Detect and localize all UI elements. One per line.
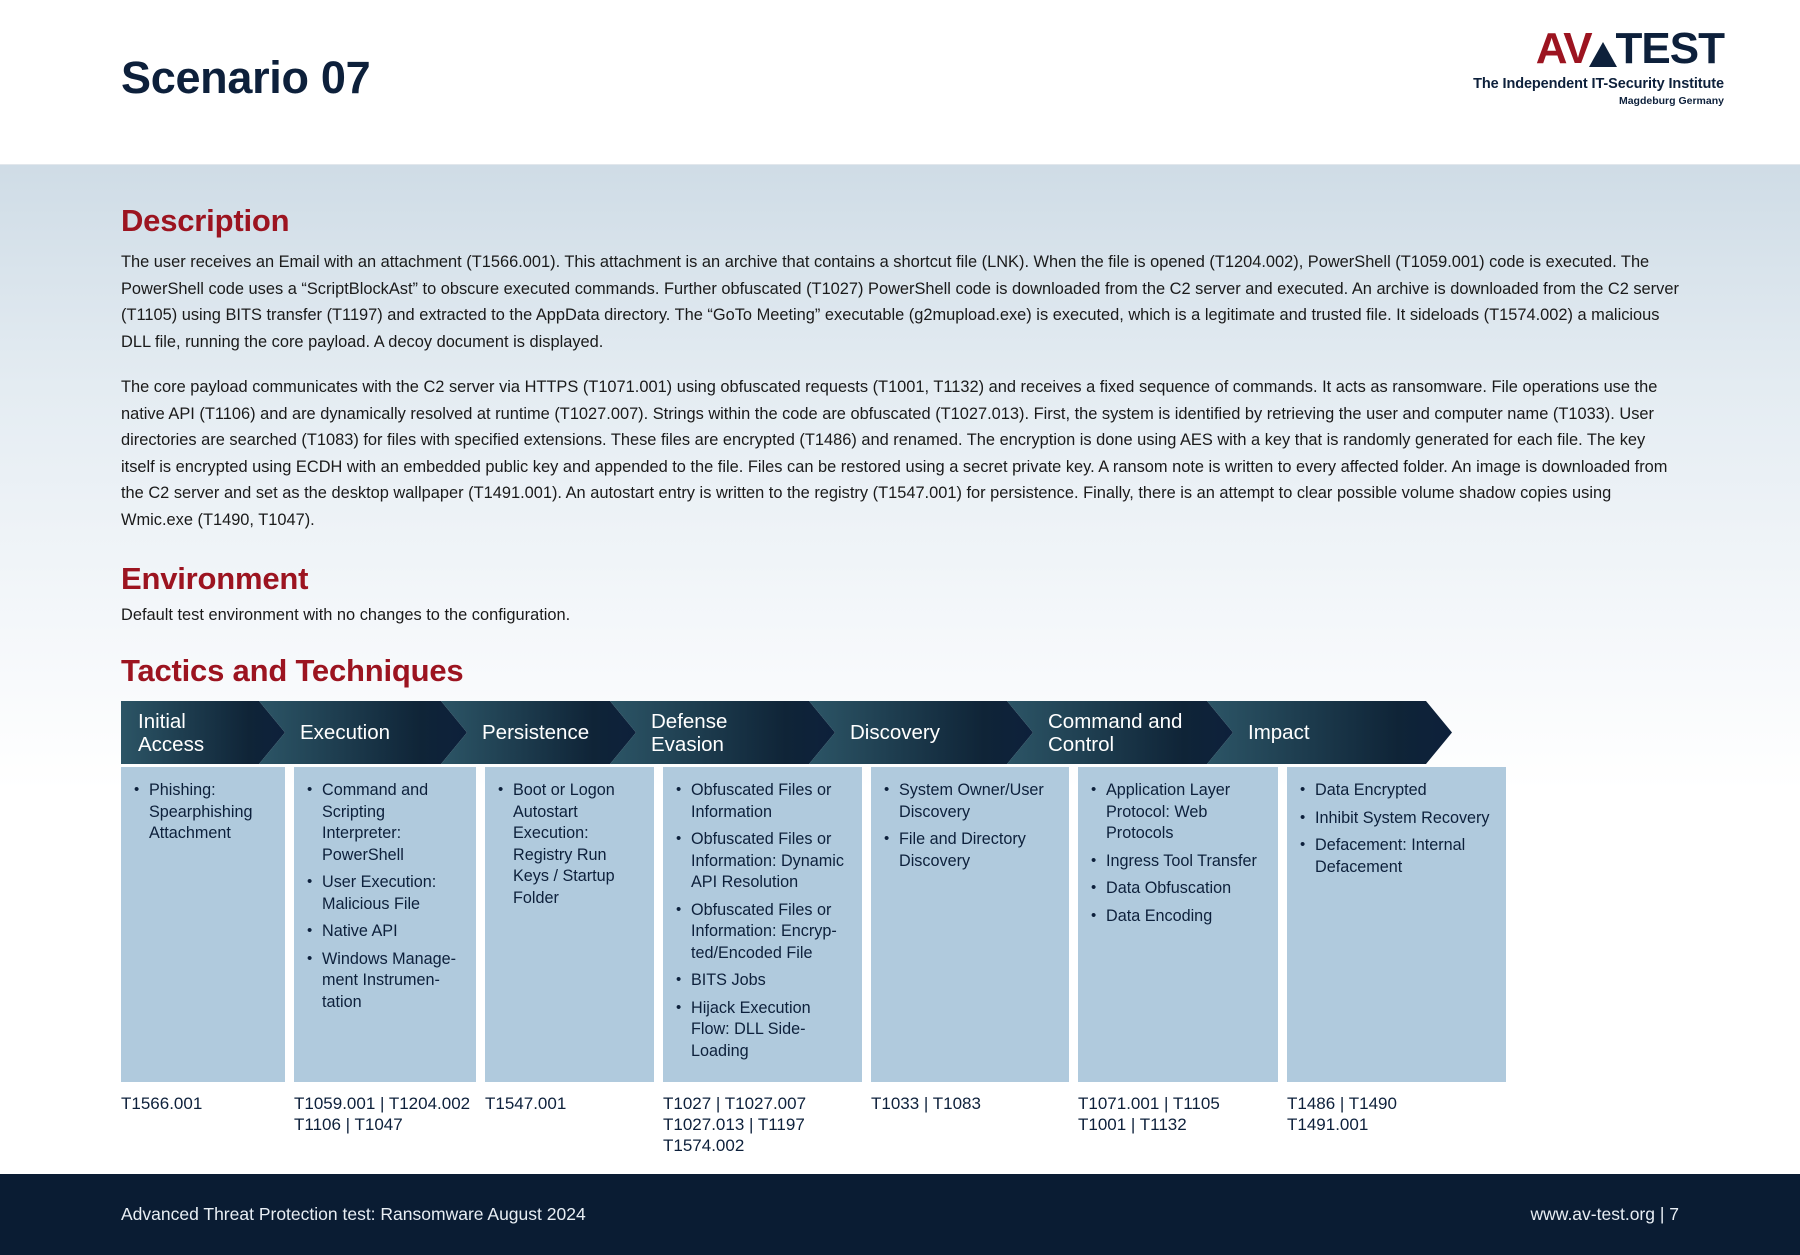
technique-item: BITS Jobs xyxy=(675,970,850,992)
page-title: Scenario 07 xyxy=(121,52,370,104)
technique-item: System Owner/User Discovery xyxy=(883,780,1057,823)
footer-url-page: www.av-test.org | 7 xyxy=(1531,1204,1680,1225)
technique-cell-discovery: System Owner/User DiscoveryFile and Dire… xyxy=(871,767,1069,1082)
technique-ids-discovery: T1033 | T1083 xyxy=(871,1093,1069,1156)
technique-ids-initial-access: T1566.001 xyxy=(121,1093,285,1156)
tactic-header-label: Persistence xyxy=(482,721,589,744)
av-triangle-icon xyxy=(1588,26,1618,68)
technique-list: Data EncryptedInhibit System RecoveryDef… xyxy=(1299,780,1494,878)
technique-item: Inhibit System Recovery xyxy=(1299,808,1494,830)
technique-list: Boot or Logon Autostart Execution: Regis… xyxy=(497,780,642,909)
technique-item: Data Obfuscation xyxy=(1090,878,1266,900)
description-heading: Description xyxy=(121,165,1679,239)
technique-item: Native API xyxy=(306,921,464,943)
environment-heading: Environment xyxy=(121,561,1679,597)
page-body: Description The user receives an Email w… xyxy=(0,165,1800,1174)
logo-wordmark: AVTEST xyxy=(1472,26,1724,71)
technique-list: Phishing: Spearphishing Attachment xyxy=(133,780,273,845)
logo-city: Magdeburg Germany xyxy=(1472,95,1724,107)
tactic-header-command-and-control[interactable]: Command andControl xyxy=(1007,701,1233,764)
technique-list: Obfuscated Files or InformationObfuscate… xyxy=(675,780,850,1062)
technique-ids-execution: T1059.001 | T1204.002 T1106 | T1047 xyxy=(294,1093,476,1156)
logo-tagline: The Independent IT-Security Institute xyxy=(1472,76,1724,92)
technique-ids-impact: T1486 | T1490 T1491.001 xyxy=(1287,1093,1506,1156)
technique-item: Boot or Logon Autostart Execution: Regis… xyxy=(497,780,642,909)
technique-cell-defense-evasion: Obfuscated Files or InformationObfuscate… xyxy=(663,767,862,1082)
technique-list: System Owner/User DiscoveryFile and Dire… xyxy=(883,780,1057,872)
tactic-header-impact[interactable]: Impact xyxy=(1207,701,1452,764)
technique-cell-initial-access: Phishing: Spearphishing Attachment xyxy=(121,767,285,1082)
technique-item: Data Encoding xyxy=(1090,906,1266,928)
technique-item: Defacement: Internal Defacement xyxy=(1299,835,1494,878)
technique-ids-defense-evasion: T1027 | T1027.007 T1027.013 | T1197 T157… xyxy=(663,1093,862,1156)
tactic-header-row: InitialAccessExecutionPersistenceDefense… xyxy=(121,701,1525,764)
technique-ids-persistence: T1547.001 xyxy=(485,1093,654,1156)
description-paragraph-2: The core payload communicates with the C… xyxy=(121,374,1679,533)
technique-list: Command and Scrip­ting Interpreter: Powe… xyxy=(306,780,464,1013)
environment-text: Default test environment with no changes… xyxy=(121,603,1679,627)
technique-ids-command-and-control: T1071.001 | T1105 T1001 | T1132 xyxy=(1078,1093,1278,1156)
tactic-header-label: Execution xyxy=(300,721,390,744)
technique-cell-persistence: Boot or Logon Autostart Execution: Regis… xyxy=(485,767,654,1082)
technique-item: Obfuscated Files or Information: Encryp­… xyxy=(675,900,850,965)
tactic-header-label: Discovery xyxy=(850,721,940,744)
technique-item: Windows Manage­ment Instrumen­tation xyxy=(306,949,464,1014)
technique-item: File and Directory Discovery xyxy=(883,829,1057,872)
technique-list: Application Layer Protocol: Web Protocol… xyxy=(1090,780,1266,927)
technique-item: Phishing: Spearphishing Attachment xyxy=(133,780,273,845)
page-header: Scenario 07 AVTEST The Independent IT-Se… xyxy=(0,0,1800,165)
technique-item: Obfuscated Files or Information xyxy=(675,780,850,823)
logo-test-text: TEST xyxy=(1616,24,1724,73)
technique-ids-row: T1566.001T1059.001 | T1204.002 T1106 | T… xyxy=(121,1093,1525,1156)
footer-test-name: Advanced Threat Protection test: Ransomw… xyxy=(121,1204,586,1225)
technique-item: Data Encrypted xyxy=(1299,780,1494,802)
tactic-header-execution[interactable]: Execution xyxy=(259,701,467,764)
technique-item: Obfuscated Files or Information: Dynam­i… xyxy=(675,829,850,894)
tactic-header-label: Impact xyxy=(1248,721,1310,744)
page-footer: Advanced Threat Protection test: Ransomw… xyxy=(0,1174,1800,1255)
tactic-header-discovery[interactable]: Discovery xyxy=(809,701,1033,764)
description-paragraph-1: The user receives an Email with an attac… xyxy=(121,249,1679,355)
logo-av-text: AV xyxy=(1536,24,1592,73)
technique-item: Ingress Tool Transfer xyxy=(1090,851,1266,873)
document-page: Scenario 07 AVTEST The Independent IT-Se… xyxy=(0,0,1800,1255)
av-test-logo: AVTEST The Independent IT-Security Insti… xyxy=(1472,26,1724,107)
technique-item: Application Layer Protocol: Web Protocol… xyxy=(1090,780,1266,845)
tactics-heading: Tactics and Techniques xyxy=(121,653,1679,689)
technique-cells-row: Phishing: Spearphishing AttachmentComman… xyxy=(121,767,1525,1082)
tactic-header-initial-access[interactable]: InitialAccess xyxy=(121,701,285,764)
tactics-matrix: InitialAccessExecutionPersistenceDefense… xyxy=(121,701,1525,1156)
tactic-header-label: InitialAccess xyxy=(138,710,204,756)
technique-cell-execution: Command and Scrip­ting Interpreter: Powe… xyxy=(294,767,476,1082)
technique-item: User Execution: Malicious File xyxy=(306,872,464,915)
technique-cell-impact: Data EncryptedInhibit System RecoveryDef… xyxy=(1287,767,1506,1082)
technique-cell-command-and-control: Application Layer Protocol: Web Protocol… xyxy=(1078,767,1278,1082)
technique-item: Command and Scrip­ting Interpreter: Powe… xyxy=(306,780,464,866)
tactic-header-label: Command andControl xyxy=(1048,710,1182,756)
technique-item: Hijack Execution Flow: DLL Side-Loading xyxy=(675,998,850,1063)
tactic-header-defense-evasion[interactable]: DefenseEvasion xyxy=(610,701,835,764)
tactic-header-persistence[interactable]: Persistence xyxy=(441,701,636,764)
tactic-header-label: DefenseEvasion xyxy=(651,710,727,756)
